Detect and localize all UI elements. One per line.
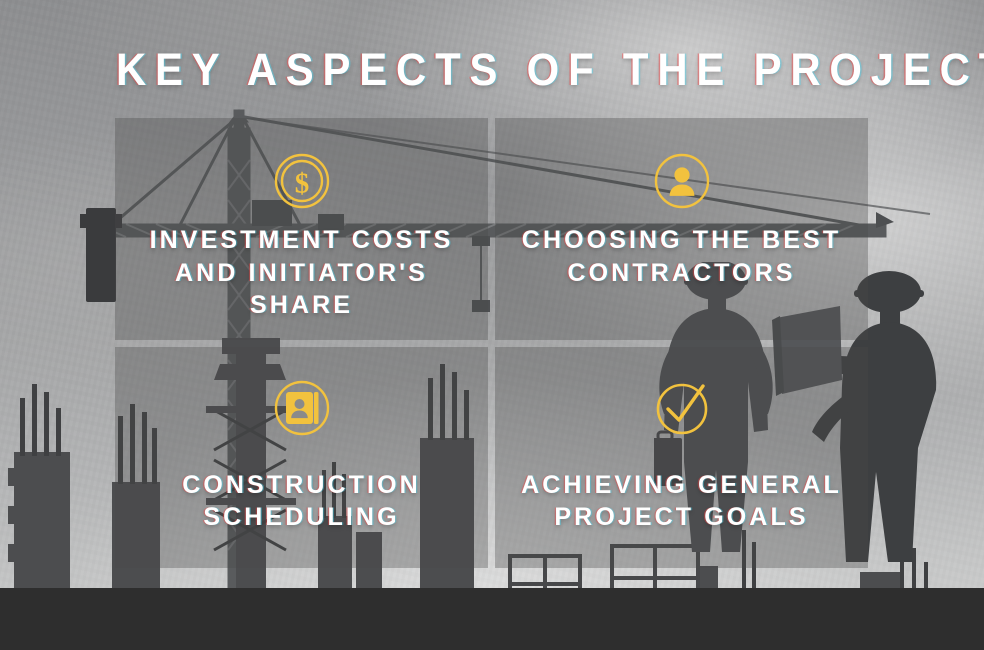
- panel-label: INVESTMENT COSTS AND INITIATOR'S SHARE: [136, 224, 468, 322]
- panel-investment-costs[interactable]: $ INVESTMENT COSTS AND INITIATOR'S SHARE: [115, 118, 488, 340]
- page-title: KEY ASPECTS OF THE PROJECT: [116, 44, 984, 96]
- panel-label: CHOOSING THE BEST CONTRACTORS: [508, 224, 855, 289]
- dollar-coin-icon: $: [273, 152, 331, 210]
- key-aspects-grid: $ INVESTMENT COSTS AND INITIATOR'S SHARE…: [115, 118, 868, 568]
- check-circle-icon: [653, 379, 711, 437]
- svg-text:$: $: [294, 168, 309, 200]
- panel-project-goals[interactable]: ACHIEVING GENERAL PROJECT GOALS: [495, 347, 868, 569]
- slide-canvas: KEY ASPECTS OF THE PROJECT $ INVESTMENT …: [0, 0, 984, 650]
- panel-construction-scheduling[interactable]: CONSTRUCTION SCHEDULING: [115, 347, 488, 569]
- ground-silhouette: [0, 588, 984, 650]
- panel-label: ACHIEVING GENERAL PROJECT GOALS: [507, 469, 856, 534]
- panel-label: CONSTRUCTION SCHEDULING: [168, 469, 435, 534]
- address-book-icon: [273, 379, 331, 437]
- user-circle-icon: [653, 152, 711, 210]
- panel-choosing-contractors[interactable]: CHOOSING THE BEST CONTRACTORS: [495, 118, 868, 340]
